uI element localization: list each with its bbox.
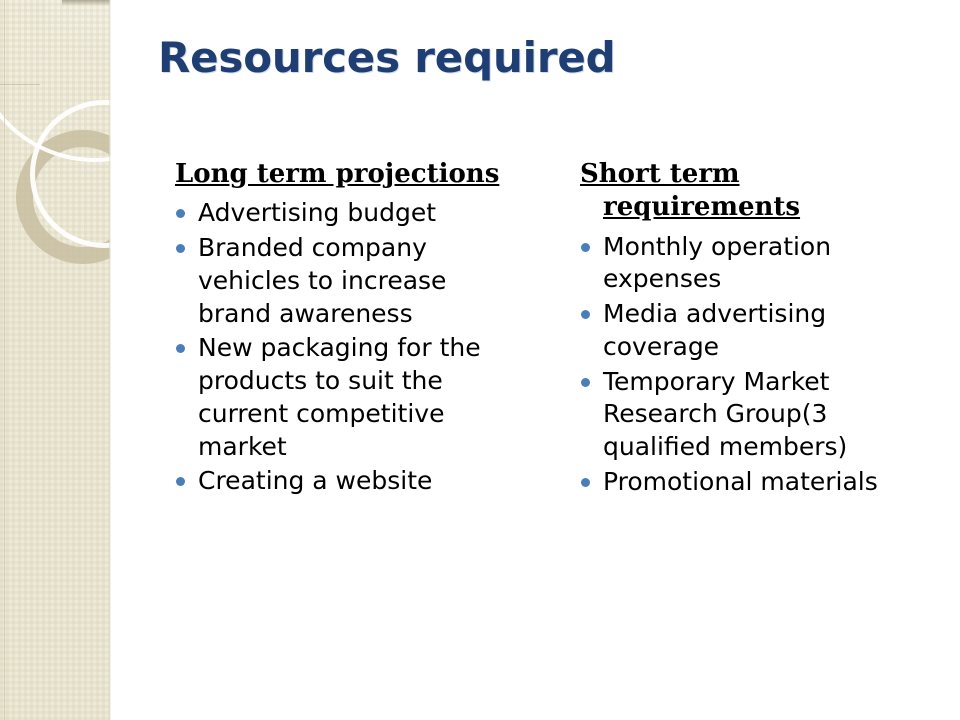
list-item: Media advertising coverage [573, 298, 923, 364]
list-item: Temporary Market Research Group(3 qualif… [573, 366, 923, 464]
column-heading-short-term: Short term requirements [573, 158, 923, 225]
list-item: Promotional materials [573, 466, 923, 499]
list-item: Advertising budget [168, 197, 520, 230]
bullet-list-long-term: Advertising budget Branded company vehic… [168, 197, 520, 498]
column-heading-long-term-text: Long term projections [175, 159, 499, 189]
bullet-dot-icon [176, 477, 185, 486]
band-seam-line [0, 84, 40, 85]
list-item-label: New packaging for the products to suit t… [198, 333, 481, 460]
bullet-dot-icon [581, 310, 590, 319]
bullet-list-short-term: Monthly operation expenses Media adverti… [573, 231, 923, 499]
bullet-dot-icon [581, 378, 590, 387]
list-item-label: Creating a website [198, 466, 432, 495]
list-item-label: Media advertising coverage [603, 299, 826, 361]
bullet-dot-icon [581, 243, 590, 252]
list-item: Branded company vehicles to increase bra… [168, 232, 520, 330]
list-item: New packaging for the products to suit t… [168, 332, 520, 463]
list-item-label: Branded company vehicles to increase bra… [198, 233, 446, 328]
bullet-dot-icon [176, 209, 185, 218]
column-long-term: Long term projections Advertising budget… [168, 158, 520, 500]
band-top-shadow [62, 0, 111, 6]
page-title: Resources required [158, 33, 918, 82]
slide-body: Long term projections Advertising budget… [0, 158, 960, 698]
list-item-label: Advertising budget [198, 198, 436, 227]
bullet-dot-icon [581, 478, 590, 487]
bullet-dot-icon [176, 244, 185, 253]
list-item-label: Promotional materials [603, 467, 878, 496]
list-item-label: Monthly operation expenses [603, 232, 831, 294]
column-short-term: Short term requirements Monthly operatio… [573, 158, 923, 501]
list-item: Monthly operation expenses [573, 231, 923, 297]
list-item: Creating a website [168, 465, 520, 498]
bullet-dot-icon [176, 344, 185, 353]
slide: Resources required Long term projections… [0, 0, 960, 720]
column-heading-short-term-text: Short term requirements [580, 159, 800, 222]
list-item-label: Temporary Market Research Group(3 qualif… [603, 367, 847, 462]
column-heading-long-term: Long term projections [168, 158, 520, 191]
